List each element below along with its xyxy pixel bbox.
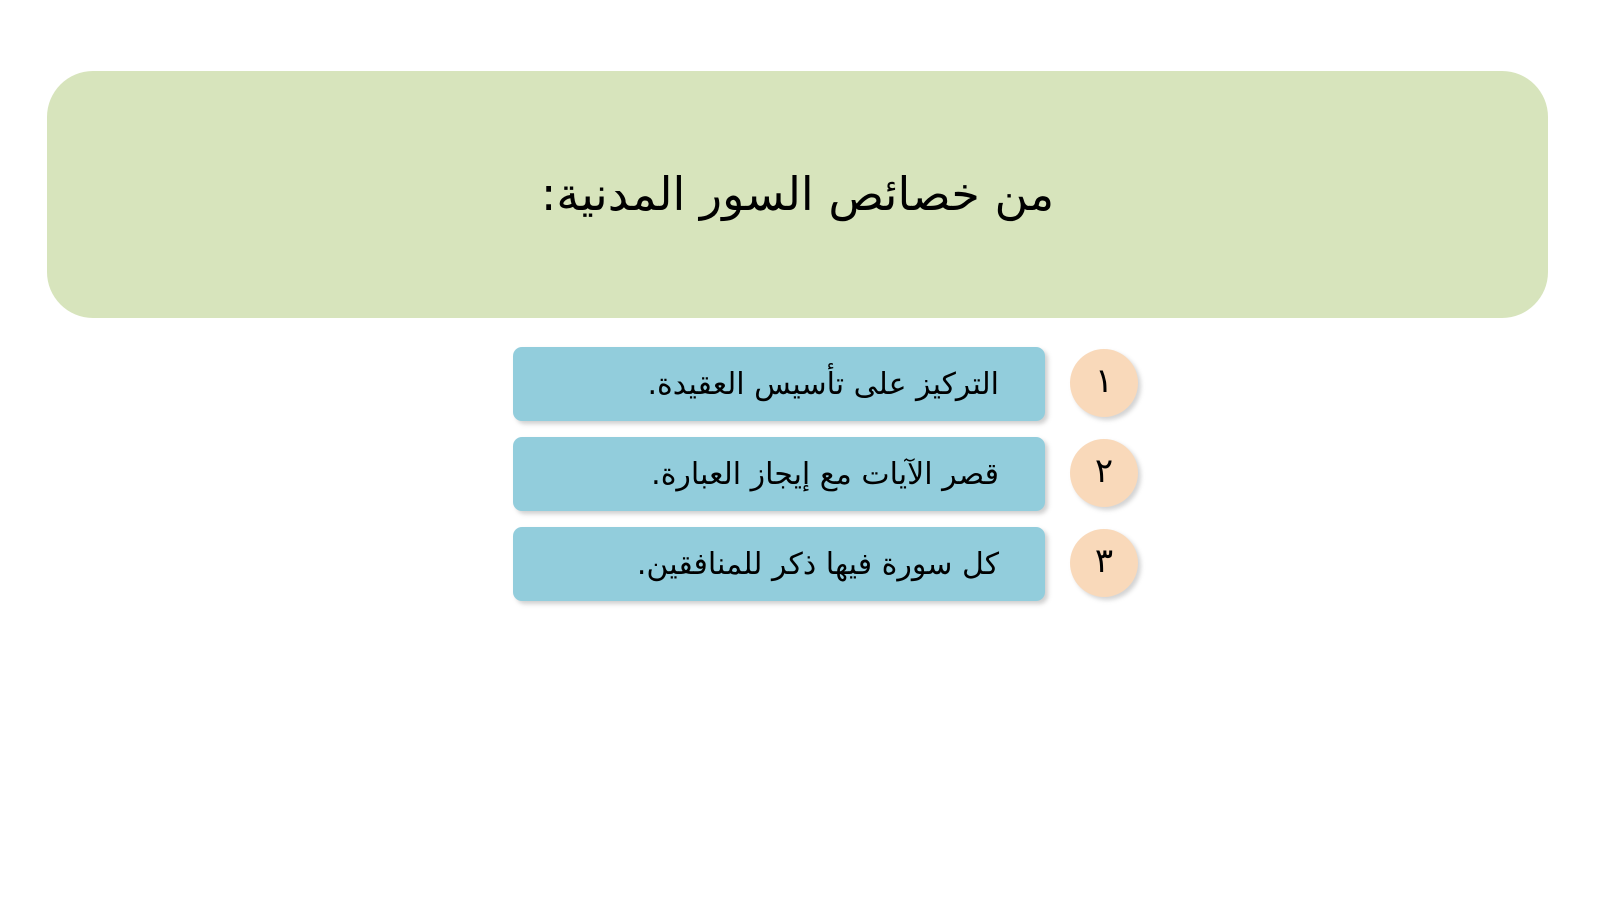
slide-canvas: من خصائص السور المدنية: التركيز على تأسي… [0,0,1600,900]
list-item[interactable]: التركيز على تأسيس العقيدة. ١ [513,347,1137,421]
page-title: من خصائص السور المدنية: [541,163,1054,225]
list-item-box[interactable]: كل سورة فيها ذكر للمنافقين. [513,527,1045,601]
list-item-number: ٣ [1095,544,1113,582]
characteristics-list: التركيز على تأسيس العقيدة. ١ قصر الآيات … [0,347,1600,607]
list-item-number-badge: ١ [1070,349,1138,417]
list-item-number-badge: ٣ [1070,529,1138,597]
list-item[interactable]: كل سورة فيها ذكر للمنافقين. ٣ [513,527,1137,601]
list-item[interactable]: قصر الآيات مع إيجاز العبارة. ٢ [513,437,1137,511]
list-item-label: قصر الآيات مع إيجاز العبارة. [531,455,999,494]
list-item-label: كل سورة فيها ذكر للمنافقين. [531,545,999,584]
list-item-number-badge: ٢ [1070,439,1138,507]
list-item-box[interactable]: قصر الآيات مع إيجاز العبارة. [513,437,1045,511]
list-item-box[interactable]: التركيز على تأسيس العقيدة. [513,347,1045,421]
list-item-number: ٢ [1095,454,1113,492]
list-item-label: التركيز على تأسيس العقيدة. [531,365,999,404]
title-banner: من خصائص السور المدنية: [47,71,1548,318]
list-item-number: ١ [1095,364,1113,402]
